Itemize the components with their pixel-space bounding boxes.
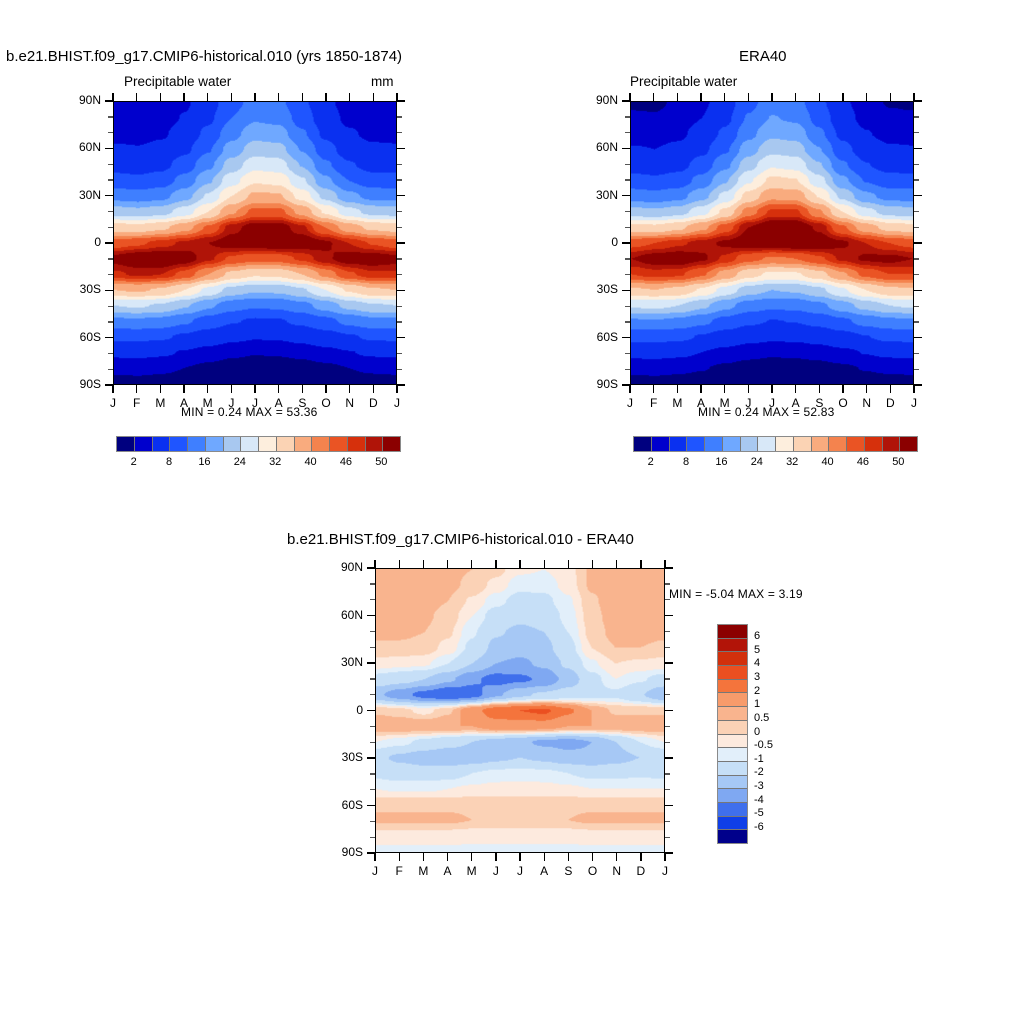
colorbar-tick-label-16: 16 bbox=[189, 456, 219, 468]
y-minor-tick-right bbox=[397, 274, 402, 275]
y-major-tick-right bbox=[397, 100, 405, 101]
colorbar-segment-2 bbox=[152, 437, 170, 451]
x-tick-label-1: F bbox=[389, 864, 409, 878]
colorbar-tick-label-24: 24 bbox=[742, 456, 772, 468]
y-major-tick bbox=[367, 662, 375, 663]
y-tick-label-60S: 60S bbox=[568, 330, 618, 344]
x-tick-label-8: S bbox=[558, 864, 578, 878]
x-tick-label-11: D bbox=[363, 396, 383, 410]
y-major-tick bbox=[105, 337, 113, 338]
y-minor-tick-right bbox=[665, 742, 670, 743]
y-major-tick bbox=[367, 757, 375, 758]
y-major-tick-right bbox=[914, 290, 922, 291]
y-major-tick-right bbox=[914, 100, 922, 101]
y-minor-tick bbox=[370, 583, 375, 584]
colorbar-segment-1 bbox=[134, 437, 152, 451]
diff-colorbar-segment-0 bbox=[718, 625, 747, 638]
model-minmax-text: MIN = 0.24 MAX = 53.36 bbox=[181, 405, 317, 419]
x-major-tick bbox=[374, 853, 375, 861]
x-major-tick bbox=[724, 385, 725, 393]
y-major-tick-right bbox=[665, 852, 673, 853]
y-minor-tick bbox=[370, 837, 375, 838]
x-tick-label-3: A bbox=[438, 864, 458, 878]
x-major-tick-top bbox=[913, 93, 914, 101]
diff-colorbar-tick-label--5: -5 bbox=[754, 807, 788, 819]
diff-colorbar-segment-7 bbox=[718, 720, 747, 734]
x-major-tick bbox=[629, 385, 630, 393]
x-major-tick bbox=[373, 385, 374, 393]
y-minor-tick-right bbox=[397, 116, 402, 117]
x-major-tick bbox=[890, 385, 891, 393]
x-tick-label-2: M bbox=[413, 864, 433, 878]
x-major-tick bbox=[771, 385, 772, 393]
y-minor-tick-right bbox=[914, 306, 919, 307]
y-minor-tick bbox=[108, 164, 113, 165]
model-units-label: mm bbox=[371, 74, 394, 89]
colorbar-segment-5 bbox=[722, 437, 740, 451]
colorbar-tick-label-50: 50 bbox=[366, 456, 396, 468]
y-tick-label-90S: 90S bbox=[313, 845, 363, 859]
x-major-tick-top bbox=[160, 93, 161, 101]
x-major-tick bbox=[700, 385, 701, 393]
y-major-tick bbox=[367, 710, 375, 711]
colorbar-segment-12 bbox=[329, 437, 347, 451]
y-minor-tick bbox=[625, 353, 630, 354]
y-minor-tick-right bbox=[397, 369, 402, 370]
x-major-tick-top bbox=[495, 560, 496, 568]
y-major-tick bbox=[622, 242, 630, 243]
x-major-tick bbox=[399, 853, 400, 861]
x-major-tick-top bbox=[136, 93, 137, 101]
y-minor-tick bbox=[370, 789, 375, 790]
x-major-tick-top bbox=[568, 560, 569, 568]
x-tick-label-11: D bbox=[880, 396, 900, 410]
x-tick-label-9: O bbox=[583, 864, 603, 878]
y-minor-tick-right bbox=[665, 678, 670, 679]
colorbar-tick-label-40: 40 bbox=[296, 456, 326, 468]
y-major-tick-right bbox=[665, 662, 673, 663]
y-tick-label-30N: 30N bbox=[568, 188, 618, 202]
x-major-tick-top bbox=[423, 560, 424, 568]
x-major-tick bbox=[183, 385, 184, 393]
colorbar-segment-3 bbox=[169, 437, 187, 451]
colorbar-tick-label-2: 2 bbox=[636, 456, 666, 468]
y-tick-label-60N: 60N bbox=[313, 608, 363, 622]
diff-colorbar-segment-2 bbox=[718, 651, 747, 665]
x-tick-label-12: J bbox=[904, 396, 924, 410]
diff-colorbar-tick-label--6: -6 bbox=[754, 821, 788, 833]
y-major-tick bbox=[622, 195, 630, 196]
y-minor-tick bbox=[370, 726, 375, 727]
y-minor-tick bbox=[370, 678, 375, 679]
x-tick-label-5: J bbox=[486, 864, 506, 878]
y-major-tick-right bbox=[914, 195, 922, 196]
x-major-tick-top bbox=[325, 93, 326, 101]
diff-colorbar-segment-11 bbox=[718, 775, 747, 789]
y-major-tick-right bbox=[914, 148, 922, 149]
y-minor-tick-right bbox=[397, 179, 402, 180]
diff-colorbar-segment-6 bbox=[718, 706, 747, 720]
x-major-tick bbox=[842, 385, 843, 393]
diff-colorbar-tick-label-0: 0 bbox=[754, 726, 788, 738]
colorbar-tick-label-32: 32 bbox=[777, 456, 807, 468]
diff-colorbar-tick-label--4: -4 bbox=[754, 794, 788, 806]
x-tick-label-1: F bbox=[127, 396, 147, 410]
precipitable-water-figure: { "figure": { "background": "#ffffff", "… bbox=[0, 0, 1024, 1024]
y-tick-label-0: 0 bbox=[313, 703, 363, 717]
y-minor-tick-right bbox=[397, 164, 402, 165]
y-tick-label-90S: 90S bbox=[568, 377, 618, 391]
colorbar-segment-15 bbox=[382, 437, 400, 451]
y-minor-tick-right bbox=[665, 821, 670, 822]
x-major-tick bbox=[664, 853, 665, 861]
x-major-tick bbox=[519, 853, 520, 861]
y-tick-label-30S: 30S bbox=[51, 282, 101, 296]
diff-colorbar[interactable] bbox=[717, 624, 748, 844]
x-major-tick bbox=[640, 853, 641, 861]
colorbar-segment-5 bbox=[205, 437, 223, 451]
colorbar-segment-12 bbox=[846, 437, 864, 451]
x-major-tick bbox=[325, 385, 326, 393]
y-minor-tick bbox=[625, 116, 630, 117]
y-minor-tick bbox=[370, 821, 375, 822]
x-major-tick-top bbox=[748, 93, 749, 101]
y-minor-tick-right bbox=[665, 837, 670, 838]
x-tick-label-10: N bbox=[857, 396, 877, 410]
y-minor-tick-right bbox=[914, 258, 919, 259]
diff-colorbar-segment-10 bbox=[718, 761, 747, 775]
x-major-tick bbox=[748, 385, 749, 393]
y-minor-tick-right bbox=[914, 369, 919, 370]
x-major-tick bbox=[160, 385, 161, 393]
x-major-tick-top bbox=[278, 93, 279, 101]
colorbar-segment-11 bbox=[311, 437, 329, 451]
x-major-tick-top bbox=[349, 93, 350, 101]
y-minor-tick-right bbox=[665, 726, 670, 727]
y-minor-tick-right bbox=[665, 694, 670, 695]
x-major-tick-top bbox=[664, 560, 665, 568]
y-minor-tick bbox=[625, 274, 630, 275]
diff-colorbar-segment-9 bbox=[718, 747, 747, 761]
x-major-tick bbox=[254, 385, 255, 393]
x-major-tick-top bbox=[724, 93, 725, 101]
y-minor-tick bbox=[108, 179, 113, 180]
x-tick-label-12: J bbox=[655, 864, 675, 878]
x-major-tick bbox=[866, 385, 867, 393]
y-major-tick bbox=[622, 337, 630, 338]
colorbar-segment-15 bbox=[899, 437, 917, 451]
y-minor-tick-right bbox=[914, 211, 919, 212]
x-tick-label-1: F bbox=[644, 396, 664, 410]
x-major-tick bbox=[207, 385, 208, 393]
x-major-tick-top bbox=[629, 93, 630, 101]
y-major-tick bbox=[105, 290, 113, 291]
x-major-tick-top bbox=[700, 93, 701, 101]
y-minor-tick-right bbox=[397, 306, 402, 307]
colorbar-segment-8 bbox=[775, 437, 793, 451]
y-minor-tick bbox=[625, 179, 630, 180]
x-major-tick bbox=[616, 853, 617, 861]
colorbar-tick-label-8: 8 bbox=[671, 456, 701, 468]
y-tick-label-60S: 60S bbox=[51, 330, 101, 344]
model-colorbar[interactable] bbox=[116, 436, 401, 452]
x-tick-label-6: J bbox=[510, 864, 530, 878]
diff-colorbar-tick-label-3: 3 bbox=[754, 671, 788, 683]
colorbar-segment-6 bbox=[740, 437, 758, 451]
y-minor-tick bbox=[625, 132, 630, 133]
y-tick-label-90N: 90N bbox=[568, 93, 618, 107]
obs-heatmap-canvas bbox=[631, 102, 913, 384]
diff-heatmap-canvas bbox=[376, 569, 664, 852]
y-minor-tick-right bbox=[914, 321, 919, 322]
diff-colorbar-segment-8 bbox=[718, 734, 747, 748]
model-plot-frame[interactable] bbox=[113, 101, 397, 385]
x-tick-label-10: N bbox=[607, 864, 627, 878]
y-tick-label-0: 0 bbox=[568, 235, 618, 249]
diff-colorbar-tick-label-2: 2 bbox=[754, 685, 788, 697]
x-tick-label-7: A bbox=[534, 864, 554, 878]
x-major-tick-top bbox=[592, 560, 593, 568]
x-major-tick-top bbox=[866, 93, 867, 101]
y-minor-tick bbox=[370, 631, 375, 632]
y-minor-tick-right bbox=[665, 773, 670, 774]
colorbar-segment-3 bbox=[686, 437, 704, 451]
y-minor-tick bbox=[625, 164, 630, 165]
x-major-tick-top bbox=[399, 560, 400, 568]
x-tick-label-12: J bbox=[387, 396, 407, 410]
x-major-tick-top bbox=[795, 93, 796, 101]
y-minor-tick bbox=[370, 599, 375, 600]
y-major-tick-right bbox=[665, 615, 673, 616]
x-tick-label-4: M bbox=[462, 864, 482, 878]
x-major-tick-top bbox=[447, 560, 448, 568]
colorbar-segment-13 bbox=[864, 437, 882, 451]
colorbar-segment-6 bbox=[223, 437, 241, 451]
colorbar-tick-label-24: 24 bbox=[225, 456, 255, 468]
colorbar-tick-label-46: 46 bbox=[331, 456, 361, 468]
diff-colorbar-tick-label-4: 4 bbox=[754, 657, 788, 669]
y-tick-label-60S: 60S bbox=[313, 798, 363, 812]
y-major-tick-right bbox=[665, 710, 673, 711]
x-major-tick-top bbox=[396, 93, 397, 101]
x-major-tick bbox=[568, 853, 569, 861]
y-tick-label-0: 0 bbox=[51, 235, 101, 249]
colorbar-segment-0 bbox=[117, 437, 134, 451]
obs-colorbar[interactable] bbox=[633, 436, 918, 452]
y-minor-tick bbox=[108, 369, 113, 370]
colorbar-segment-9 bbox=[276, 437, 294, 451]
x-major-tick-top bbox=[112, 93, 113, 101]
colorbar-segment-11 bbox=[828, 437, 846, 451]
colorbar-segment-9 bbox=[793, 437, 811, 451]
x-major-tick bbox=[677, 385, 678, 393]
y-minor-tick-right bbox=[914, 132, 919, 133]
colorbar-segment-4 bbox=[187, 437, 205, 451]
diff-colorbar-tick-label-1: 1 bbox=[754, 698, 788, 710]
y-tick-label-30S: 30S bbox=[313, 750, 363, 764]
model-panel-title: b.e21.BHIST.f09_g17.CMIP6-historical.010… bbox=[6, 48, 402, 65]
colorbar-tick-label-40: 40 bbox=[813, 456, 843, 468]
y-major-tick bbox=[622, 290, 630, 291]
obs-field-label: Precipitable water bbox=[630, 74, 737, 89]
colorbar-segment-10 bbox=[294, 437, 312, 451]
colorbar-segment-2 bbox=[669, 437, 687, 451]
y-major-tick-right bbox=[665, 757, 673, 758]
y-minor-tick-right bbox=[914, 274, 919, 275]
diff-colorbar-tick-label--1: -1 bbox=[754, 753, 788, 765]
diff-colorbar-segment-12 bbox=[718, 788, 747, 802]
x-major-tick-top bbox=[677, 93, 678, 101]
y-major-tick bbox=[105, 148, 113, 149]
diff-colorbar-tick-label-5: 5 bbox=[754, 644, 788, 656]
y-minor-tick-right bbox=[397, 132, 402, 133]
y-tick-label-30N: 30N bbox=[51, 188, 101, 202]
diff-colorbar-tick-label-6: 6 bbox=[754, 630, 788, 642]
x-tick-label-10: N bbox=[340, 396, 360, 410]
y-tick-label-90N: 90N bbox=[313, 560, 363, 574]
x-major-tick-top bbox=[302, 93, 303, 101]
diff-colorbar-tick-label--2: -2 bbox=[754, 766, 788, 778]
y-minor-tick bbox=[108, 227, 113, 228]
y-major-tick-right bbox=[397, 195, 405, 196]
y-minor-tick bbox=[625, 258, 630, 259]
x-tick-label-11: D bbox=[631, 864, 651, 878]
diff-colorbar-segment-13 bbox=[718, 802, 747, 816]
y-minor-tick-right bbox=[397, 258, 402, 259]
diff-colorbar-segment-14 bbox=[718, 816, 747, 830]
colorbar-tick-label-16: 16 bbox=[706, 456, 736, 468]
x-major-tick bbox=[423, 853, 424, 861]
y-minor-tick-right bbox=[914, 116, 919, 117]
diff-colorbar-tick-label--3: -3 bbox=[754, 780, 788, 792]
y-minor-tick bbox=[625, 211, 630, 212]
diff-panel-title: b.e21.BHIST.f09_g17.CMIP6-historical.010… bbox=[287, 531, 634, 548]
y-minor-tick bbox=[370, 647, 375, 648]
y-minor-tick bbox=[108, 306, 113, 307]
colorbar-segment-8 bbox=[258, 437, 276, 451]
diff-minmax-text: MIN = -5.04 MAX = 3.19 bbox=[669, 587, 803, 601]
x-major-tick-top bbox=[231, 93, 232, 101]
x-major-tick-top bbox=[890, 93, 891, 101]
x-major-tick bbox=[471, 853, 472, 861]
x-major-tick bbox=[913, 385, 914, 393]
x-major-tick-top bbox=[254, 93, 255, 101]
colorbar-segment-1 bbox=[651, 437, 669, 451]
x-major-tick bbox=[231, 385, 232, 393]
y-minor-tick-right bbox=[914, 164, 919, 165]
colorbar-segment-10 bbox=[811, 437, 829, 451]
y-minor-tick-right bbox=[665, 647, 670, 648]
y-major-tick-right bbox=[665, 567, 673, 568]
y-minor-tick bbox=[108, 258, 113, 259]
colorbar-segment-14 bbox=[365, 437, 383, 451]
x-major-tick bbox=[302, 385, 303, 393]
colorbar-segment-7 bbox=[240, 437, 258, 451]
y-minor-tick bbox=[370, 773, 375, 774]
obs-plot-frame[interactable] bbox=[630, 101, 914, 385]
x-major-tick-top bbox=[819, 93, 820, 101]
model-heatmap-canvas bbox=[114, 102, 396, 384]
y-minor-tick-right bbox=[397, 321, 402, 322]
x-major-tick-top bbox=[616, 560, 617, 568]
colorbar-tick-label-50: 50 bbox=[883, 456, 913, 468]
y-minor-tick-right bbox=[914, 227, 919, 228]
y-major-tick bbox=[367, 615, 375, 616]
x-major-tick bbox=[495, 853, 496, 861]
colorbar-segment-4 bbox=[704, 437, 722, 451]
y-minor-tick-right bbox=[665, 583, 670, 584]
y-minor-tick bbox=[370, 742, 375, 743]
x-major-tick bbox=[447, 853, 448, 861]
y-major-tick-right bbox=[397, 337, 405, 338]
x-major-tick bbox=[544, 853, 545, 861]
colorbar-segment-7 bbox=[757, 437, 775, 451]
diff-plot-frame[interactable] bbox=[375, 568, 665, 853]
y-minor-tick bbox=[108, 353, 113, 354]
y-major-tick-right bbox=[397, 148, 405, 149]
colorbar-tick-label-8: 8 bbox=[154, 456, 184, 468]
x-major-tick-top bbox=[544, 560, 545, 568]
diff-colorbar-segment-1 bbox=[718, 638, 747, 652]
y-minor-tick bbox=[625, 369, 630, 370]
colorbar-tick-label-46: 46 bbox=[848, 456, 878, 468]
x-major-tick-top bbox=[653, 93, 654, 101]
y-tick-label-60N: 60N bbox=[568, 140, 618, 154]
x-tick-label-2: M bbox=[150, 396, 170, 410]
y-major-tick-right bbox=[914, 384, 922, 385]
x-major-tick bbox=[819, 385, 820, 393]
diff-colorbar-segment-15 bbox=[718, 829, 747, 843]
y-major-tick bbox=[622, 148, 630, 149]
y-minor-tick bbox=[625, 227, 630, 228]
x-major-tick-top bbox=[640, 560, 641, 568]
y-major-tick bbox=[105, 242, 113, 243]
x-tick-label-0: J bbox=[103, 396, 123, 410]
x-major-tick bbox=[112, 385, 113, 393]
colorbar-tick-label-32: 32 bbox=[260, 456, 290, 468]
x-major-tick-top bbox=[771, 93, 772, 101]
y-minor-tick bbox=[108, 211, 113, 212]
y-major-tick-right bbox=[665, 805, 673, 806]
y-tick-label-90N: 90N bbox=[51, 93, 101, 107]
x-major-tick-top bbox=[519, 560, 520, 568]
y-minor-tick bbox=[108, 116, 113, 117]
y-minor-tick bbox=[370, 694, 375, 695]
x-tick-label-0: J bbox=[620, 396, 640, 410]
diff-colorbar-segment-4 bbox=[718, 679, 747, 693]
colorbar-segment-0 bbox=[634, 437, 651, 451]
x-major-tick bbox=[349, 385, 350, 393]
y-minor-tick bbox=[108, 321, 113, 322]
colorbar-tick-label-2: 2 bbox=[119, 456, 149, 468]
y-minor-tick-right bbox=[914, 353, 919, 354]
y-minor-tick bbox=[108, 132, 113, 133]
x-major-tick-top bbox=[374, 560, 375, 568]
y-major-tick-right bbox=[397, 290, 405, 291]
x-major-tick bbox=[396, 385, 397, 393]
x-major-tick bbox=[795, 385, 796, 393]
x-tick-label-9: O bbox=[316, 396, 336, 410]
y-minor-tick bbox=[625, 306, 630, 307]
obs-minmax-text: MIN = 0.24 MAX = 52.83 bbox=[698, 405, 834, 419]
y-tick-label-60N: 60N bbox=[51, 140, 101, 154]
x-tick-label-9: O bbox=[833, 396, 853, 410]
y-tick-label-30N: 30N bbox=[313, 655, 363, 669]
y-minor-tick bbox=[108, 274, 113, 275]
y-tick-label-90S: 90S bbox=[51, 377, 101, 391]
obs-panel-title: ERA40 bbox=[739, 48, 787, 65]
diff-colorbar-tick-label-0.5: 0.5 bbox=[754, 712, 788, 724]
